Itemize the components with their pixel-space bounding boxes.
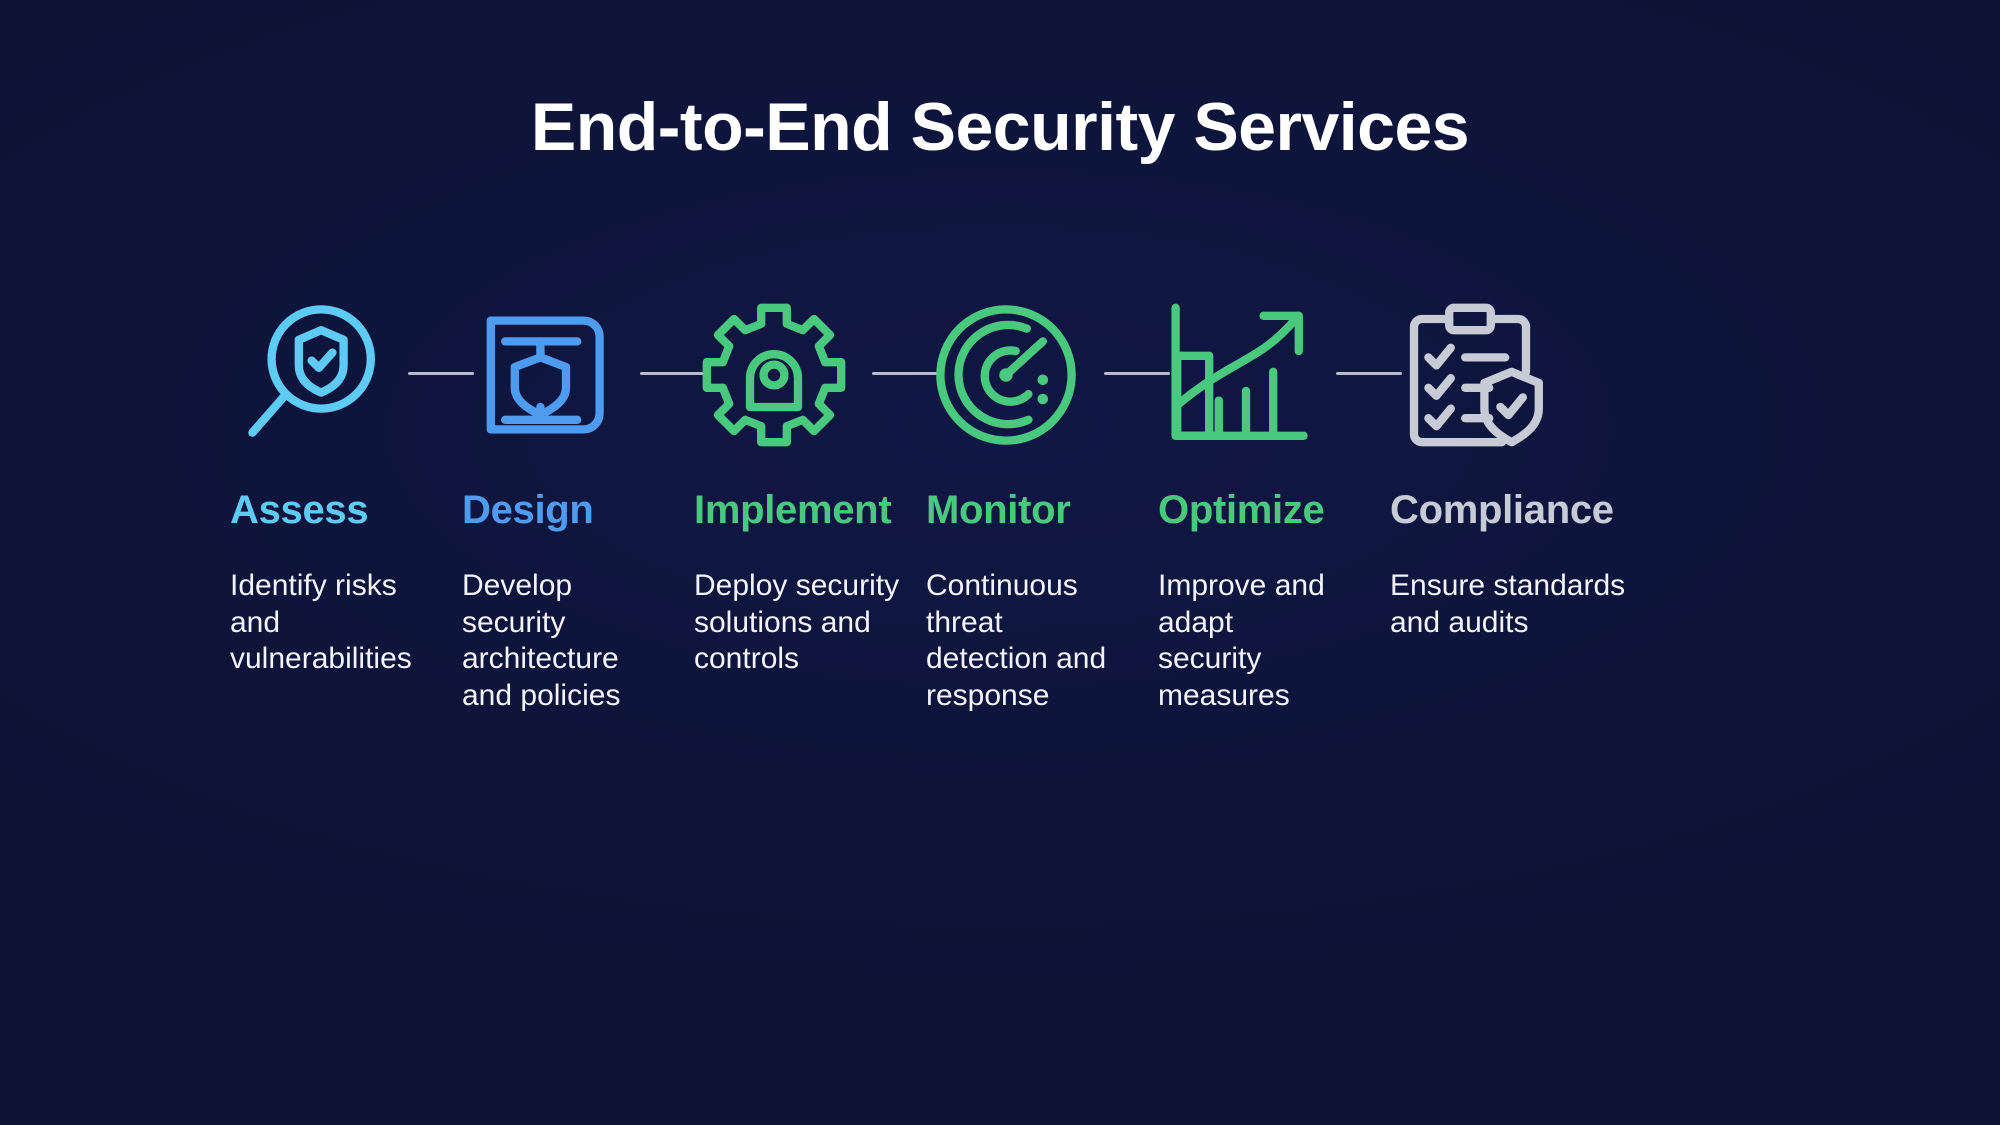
- step-description-monitor: Continuous threat detection and response: [926, 568, 1126, 714]
- step-design[interactable]: Design Develop security architecture and…: [462, 290, 694, 714]
- step-assess[interactable]: Assess Identify risks and vulnerabilitie…: [230, 290, 462, 678]
- clipboard-checklist-shield-icon: [1390, 290, 1560, 460]
- step-compliance[interactable]: Compliance Ensure standards and audits: [1390, 290, 1622, 641]
- step-label-optimize: Optimize: [1158, 488, 1325, 532]
- step-label-assess: Assess: [230, 488, 368, 532]
- step-label-monitor: Monitor: [926, 488, 1071, 532]
- step-label-implement: Implement: [694, 488, 891, 532]
- step-label-design: Design: [462, 488, 594, 532]
- magnifier-shield-check-icon: [230, 290, 400, 460]
- step-label-compliance: Compliance: [1390, 488, 1614, 532]
- step-description-design: Develop security architecture and polici…: [462, 568, 670, 714]
- growth-chart-arrow-icon: [1158, 290, 1328, 460]
- step-monitor[interactable]: Monitor Continuous threat detection and …: [926, 290, 1158, 714]
- page-title: End-to-End Security Services: [0, 92, 2000, 163]
- radar-scan-icon: [926, 290, 1096, 460]
- slide-canvas: End-to-End Security Services Assess Iden…: [0, 0, 2000, 1125]
- step-description-optimize: Improve and adapt security measures: [1158, 568, 1343, 714]
- step-description-assess: Identify risks and vulnerabilities: [230, 568, 440, 678]
- step-description-implement: Deploy security solutions and controls: [694, 568, 909, 678]
- gear-lock-icon: [694, 290, 864, 460]
- step-optimize[interactable]: Optimize Improve and adapt security meas…: [1158, 290, 1390, 714]
- step-description-compliance: Ensure standards and audits: [1390, 568, 1635, 641]
- security-process-steps: Assess Identify risks and vulnerabilitie…: [230, 290, 1770, 714]
- blueprint-shield-icon: [462, 290, 632, 460]
- step-implement[interactable]: Implement Deploy security solutions and …: [694, 290, 926, 678]
